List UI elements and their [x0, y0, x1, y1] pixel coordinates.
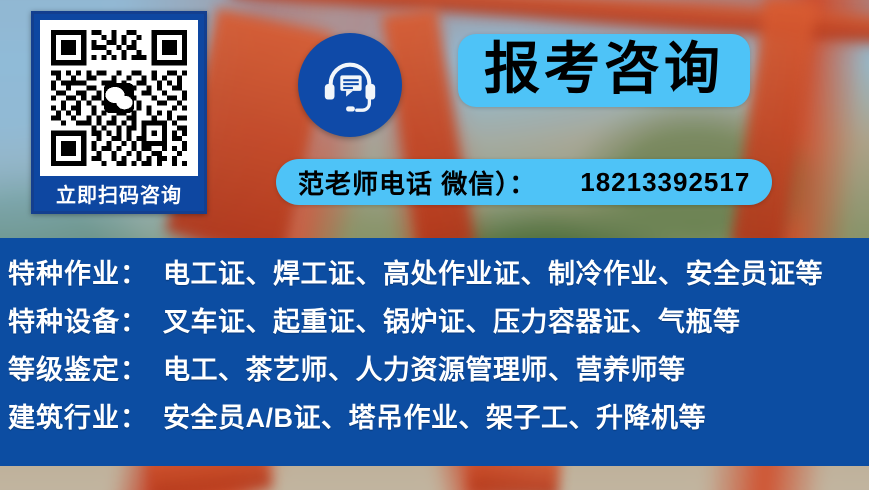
category-row-1: 特种作业 ： 电工证、焊工证、高处作业证、制冷作业、安全员证等 — [0, 252, 869, 300]
wechat-icon — [104, 83, 134, 113]
qr-caption: 立即扫码咨询 — [40, 176, 198, 216]
category-row-4: 建筑行业 ： 安全员A/B证、塔吊作业、架子工、升降机等 — [0, 396, 869, 444]
category-label: 等级鉴定 — [8, 348, 120, 387]
category-items: 电工、茶艺师、人力资源管理师、营养师等 — [163, 348, 686, 387]
contact-number[interactable]: 18213392517 — [580, 167, 750, 198]
contact-bar[interactable]: 范老师电话 微信）： 18213392517 — [276, 159, 772, 205]
category-label: 特种作业 — [8, 252, 120, 291]
contact-label: 范老师电话 微信）： — [298, 164, 536, 201]
category-label: 建筑行业 — [8, 396, 120, 435]
category-items: 电工证、焊工证、高处作业证、制冷作业、安全员证等 — [163, 252, 823, 291]
category-row-2: 特种设备 ： 叉车证、起重证、锅炉证、压力容器证、气瓶等 — [0, 300, 869, 348]
category-colon: ： — [120, 348, 147, 387]
category-colon: ： — [120, 300, 147, 339]
headset-support-icon[interactable] — [298, 33, 402, 137]
category-colon: ： — [120, 396, 147, 435]
category-panel: 特种作业 ： 电工证、焊工证、高处作业证、制冷作业、安全员证等 特种设备 ： 叉… — [0, 238, 869, 466]
qr-code-image[interactable] — [40, 20, 198, 176]
category-colon: ： — [120, 252, 147, 291]
category-row-3: 等级鉴定 ： 电工、茶艺师、人力资源管理师、营养师等 — [0, 348, 869, 396]
category-items: 叉车证、起重证、锅炉证、压力容器证、气瓶等 — [163, 300, 741, 339]
headset-icon-svg — [319, 54, 381, 116]
page-title: 报考咨询 — [458, 34, 750, 107]
qr-card[interactable]: 立即扫码咨询 — [31, 11, 207, 214]
promo-poster: 立即扫码咨询 报考咨询 范老师电话 微信）： 18213392517 特种作业 … — [0, 0, 869, 490]
category-items: 安全员A/B证、塔吊作业、架子工、升降机等 — [163, 396, 706, 435]
qr-code-svg — [46, 25, 192, 171]
category-label: 特种设备 — [8, 300, 120, 339]
